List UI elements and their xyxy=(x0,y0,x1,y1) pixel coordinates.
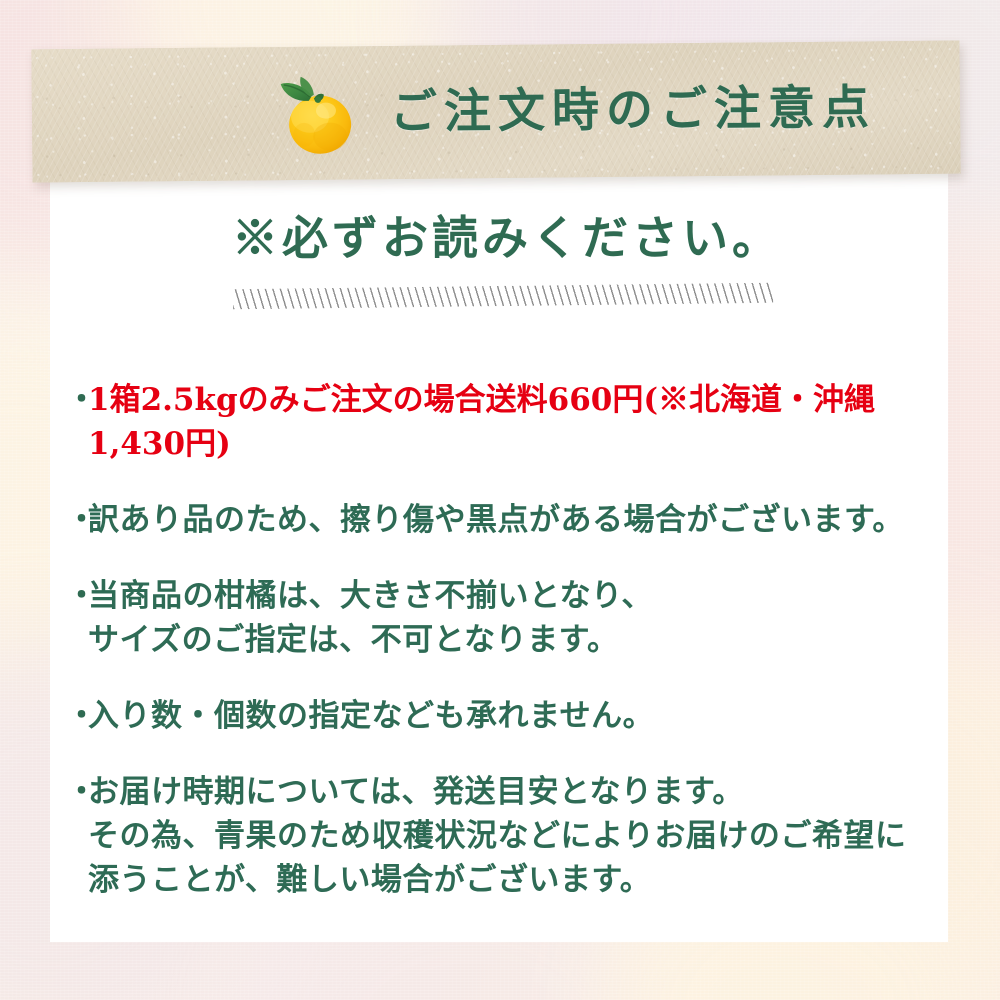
bullet-marker: ・ xyxy=(66,498,88,542)
note-item: ・ 当商品の柑橘は、大きさ不揃いとなり、 サイズのご指定は、不可となります。 xyxy=(66,574,946,662)
header-banner: ご注文時のご注意点 xyxy=(31,41,960,183)
bullet-marker: ・ xyxy=(66,378,88,422)
mandarin-orange-icon xyxy=(264,60,373,169)
banner-title: ご注文時のご注意点 xyxy=(389,41,960,179)
note-text: 当商品の柑橘は、大きさ不揃いとなり、 サイズのご指定は、不可となります。 xyxy=(88,574,946,662)
note-text: 入り数・個数の指定なども承れません。 xyxy=(88,694,946,738)
note-item: ・ 入り数・個数の指定なども承れません。 xyxy=(66,694,946,738)
note-text: 訳あり品のため、擦り傷や黒点がある場合がございます。 xyxy=(88,498,946,542)
note-item: ・ 訳あり品のため、擦り傷や黒点がある場合がございます。 xyxy=(66,498,946,542)
notes-list: ・ 1箱2.5kgのみご注文の場合送料660円(※北海道・沖縄1,430円) ・… xyxy=(66,378,946,902)
bullet-marker: ・ xyxy=(66,574,88,618)
subheading: ※必ずお読みください。 xyxy=(0,212,1000,265)
bullet-marker: ・ xyxy=(66,770,88,814)
notice-graphic: ご注文時のご注意点 ※必ずお読みください。 ・ 1箱2.5kgのみご注文の場合送… xyxy=(0,0,1000,1000)
note-item: ・ お届け時期については、発送目安となります。 その為、青果のため収穫状況などに… xyxy=(66,770,946,902)
bullet-marker: ・ xyxy=(66,694,88,738)
note-item: ・ 1箱2.5kgのみご注文の場合送料660円(※北海道・沖縄1,430円) xyxy=(66,378,946,466)
note-text: 1箱2.5kgのみご注文の場合送料660円(※北海道・沖縄1,430円) xyxy=(88,378,946,466)
note-text: お届け時期については、発送目安となります。 その為、青果のため収穫状況などにより… xyxy=(88,770,946,902)
